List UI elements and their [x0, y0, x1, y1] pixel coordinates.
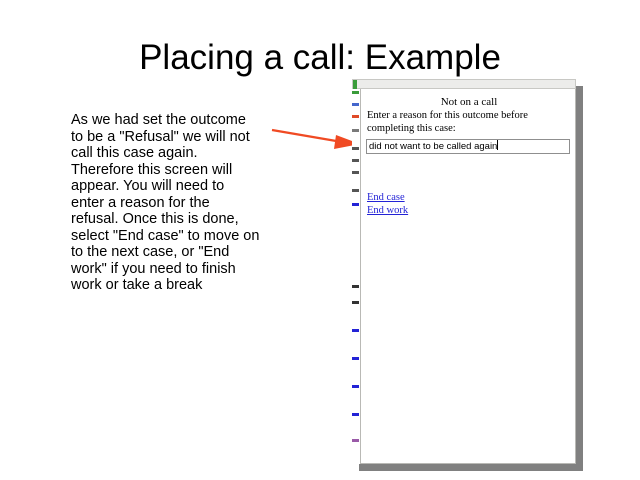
background-page-fragment: [352, 357, 359, 360]
background-page-fragment: [352, 439, 359, 442]
dialog-page: Not on a call Enter a reason for this ou…: [360, 89, 576, 464]
window-toolbar: [352, 79, 576, 89]
background-page-fragment: [352, 115, 359, 118]
background-page-fragment: [352, 329, 359, 332]
background-page-fragment: [352, 147, 359, 150]
slide-title: Placing a call: Example: [0, 38, 640, 78]
background-page-fragment: [352, 171, 359, 174]
background-page-sliver: [352, 89, 360, 464]
end-work-link[interactable]: End work: [367, 204, 408, 217]
slide-body-text: As we had set the outcome to be a "Refus…: [71, 112, 261, 294]
dialog-heading: Not on a call: [361, 96, 577, 108]
reason-input[interactable]: did not want to be called again: [366, 139, 570, 154]
background-page-fragment: [352, 91, 359, 94]
dialog-instruction-text: Enter a reason for this outcome before c…: [367, 110, 573, 135]
background-page-fragment: [352, 413, 359, 416]
background-page-fragment: [352, 301, 359, 304]
background-page-fragment: [352, 203, 359, 206]
text-cursor-icon: [497, 140, 498, 150]
embedded-browser-window: Not on a call Enter a reason for this ou…: [352, 79, 576, 464]
arrow-right-icon: [270, 120, 362, 154]
background-page-fragment: [352, 103, 359, 106]
background-page-fragment: [352, 129, 359, 132]
background-page-fragment: [352, 159, 359, 162]
background-page-fragment: [352, 285, 359, 288]
end-case-link[interactable]: End case: [367, 191, 408, 204]
dialog-action-links: End case End work: [367, 191, 408, 217]
reason-input-value: did not want to be called again: [369, 141, 497, 152]
background-page-fragment: [352, 189, 359, 192]
background-page-fragment: [352, 385, 359, 388]
